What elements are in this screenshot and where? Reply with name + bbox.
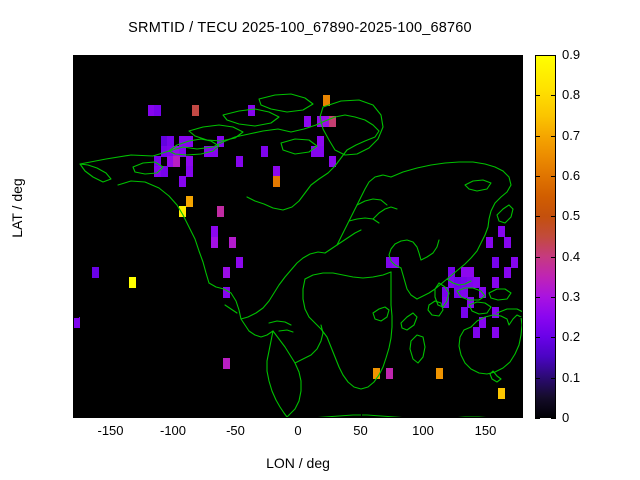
y-tick-mark xyxy=(517,196,523,197)
colorbar-tick-mark xyxy=(535,176,540,177)
colorbar-tick-mark xyxy=(551,418,556,419)
colorbar-tick-mark xyxy=(551,378,556,379)
colorbar-tick-mark xyxy=(551,176,556,177)
y-axis-label: LAT / deg xyxy=(9,158,25,258)
colorbar-tick-mark xyxy=(535,337,540,338)
colorbar-tick-mark xyxy=(535,95,540,96)
x-tick-mark xyxy=(298,55,299,61)
colorbar-tick-mark xyxy=(535,378,540,379)
x-tick-label: -50 xyxy=(206,424,266,437)
y-tick-mark xyxy=(517,358,523,359)
x-tick-label: 0 xyxy=(268,424,328,437)
x-tick-label: 150 xyxy=(456,424,516,437)
colorbar-tick-label: 0.6 xyxy=(562,169,580,182)
x-tick-label: 100 xyxy=(393,424,453,437)
y-tick-mark xyxy=(517,237,523,238)
colorbar-gradient xyxy=(535,55,556,418)
y-tick-mark xyxy=(517,156,523,157)
x-tick-mark xyxy=(361,412,362,418)
page-title: SRMTID / TECU 2025-100_67890-2025-100_68… xyxy=(0,20,600,36)
colorbar-tick-mark xyxy=(551,136,556,137)
colorbar-tick-label: 0.5 xyxy=(562,209,580,222)
y-tick-mark xyxy=(73,277,79,278)
colorbar-tick-mark xyxy=(535,55,540,56)
x-axis-label: LON / deg xyxy=(73,455,523,471)
colorbar-tick-mark xyxy=(551,337,556,338)
x-tick-label: -100 xyxy=(143,424,203,437)
colorbar-tick-mark xyxy=(551,216,556,217)
colorbar-tick-label: 0.7 xyxy=(562,129,580,142)
y-tick-mark xyxy=(73,237,79,238)
coastline-overlay xyxy=(73,55,523,418)
colorbar-tick-mark xyxy=(535,257,540,258)
y-tick-mark xyxy=(73,75,79,76)
x-tick-mark xyxy=(236,55,237,61)
x-tick-mark xyxy=(486,412,487,418)
y-tick-mark xyxy=(73,358,79,359)
x-tick-mark xyxy=(236,412,237,418)
x-tick-mark xyxy=(111,412,112,418)
y-tick-mark xyxy=(517,317,523,318)
colorbar-tick-mark xyxy=(535,418,540,419)
y-tick-mark xyxy=(73,116,79,117)
x-tick-mark xyxy=(423,412,424,418)
y-tick-mark xyxy=(73,398,79,399)
colorbar-tick-mark xyxy=(535,297,540,298)
x-tick-mark xyxy=(361,55,362,61)
colorbar-tick-mark xyxy=(551,95,556,96)
colorbar-tick-mark xyxy=(535,136,540,137)
map-plot-area xyxy=(73,55,523,418)
x-tick-mark xyxy=(173,412,174,418)
x-tick-label: 50 xyxy=(331,424,391,437)
colorbar-tick-mark xyxy=(551,55,556,56)
colorbar-tick-label: 0.9 xyxy=(562,48,580,61)
y-tick-mark xyxy=(517,398,523,399)
x-tick-mark xyxy=(173,55,174,61)
x-tick-mark xyxy=(298,412,299,418)
y-tick-mark xyxy=(517,116,523,117)
colorbar-tick-label: 0.1 xyxy=(562,371,580,384)
x-tick-mark xyxy=(486,55,487,61)
colorbar-tick-label: 0.3 xyxy=(562,290,580,303)
y-tick-mark xyxy=(73,196,79,197)
colorbar-tick-mark xyxy=(535,216,540,217)
x-tick-label: -150 xyxy=(81,424,141,437)
colorbar-tick-label: 0.8 xyxy=(562,88,580,101)
colorbar-tick-label: 0.4 xyxy=(562,250,580,263)
colorbar-tick-label: 0 xyxy=(562,411,569,424)
colorbar-tick-mark xyxy=(551,257,556,258)
y-tick-mark xyxy=(73,317,79,318)
colorbar-tick-mark xyxy=(551,297,556,298)
y-tick-mark xyxy=(517,277,523,278)
y-tick-mark xyxy=(517,75,523,76)
x-tick-mark xyxy=(111,55,112,61)
figure-root: SRMTID / TECU 2025-100_67890-2025-100_68… xyxy=(0,0,640,480)
x-tick-mark xyxy=(423,55,424,61)
y-tick-mark xyxy=(73,156,79,157)
colorbar-tick-label: 0.2 xyxy=(562,330,580,343)
